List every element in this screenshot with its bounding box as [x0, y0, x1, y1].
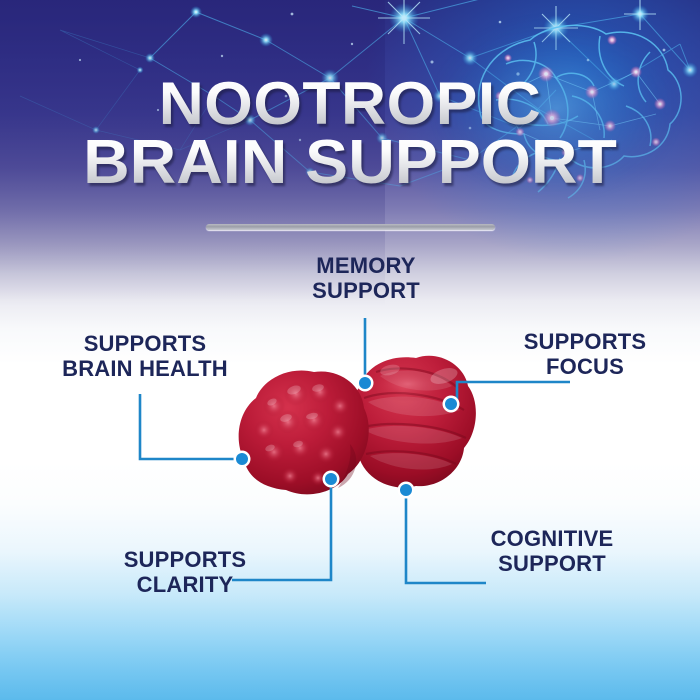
raspberry-gummy-right [351, 356, 476, 488]
title-line-2: BRAIN SUPPORT [0, 134, 700, 191]
title-divider [206, 224, 495, 230]
callout-cognitive-support: COGNITIVE SUPPORT [450, 527, 654, 577]
product-infographic: NOOTROPIC BRAIN SUPPORT [0, 0, 700, 700]
page-title: NOOTROPIC BRAIN SUPPORT [0, 76, 700, 191]
title-line-1: NOOTROPIC [0, 76, 700, 131]
callout-memory-support: MEMORY SUPPORT [268, 254, 464, 304]
callout-supports-brain-health: SUPPORTS BRAIN HEALTH [30, 332, 260, 382]
callout-supports-focus: SUPPORTS FOCUS [492, 330, 678, 380]
callout-supports-clarity: SUPPORTS CLARITY [88, 548, 282, 598]
raspberry-gummy-left [239, 370, 369, 494]
gummy-pair-image [230, 340, 480, 520]
